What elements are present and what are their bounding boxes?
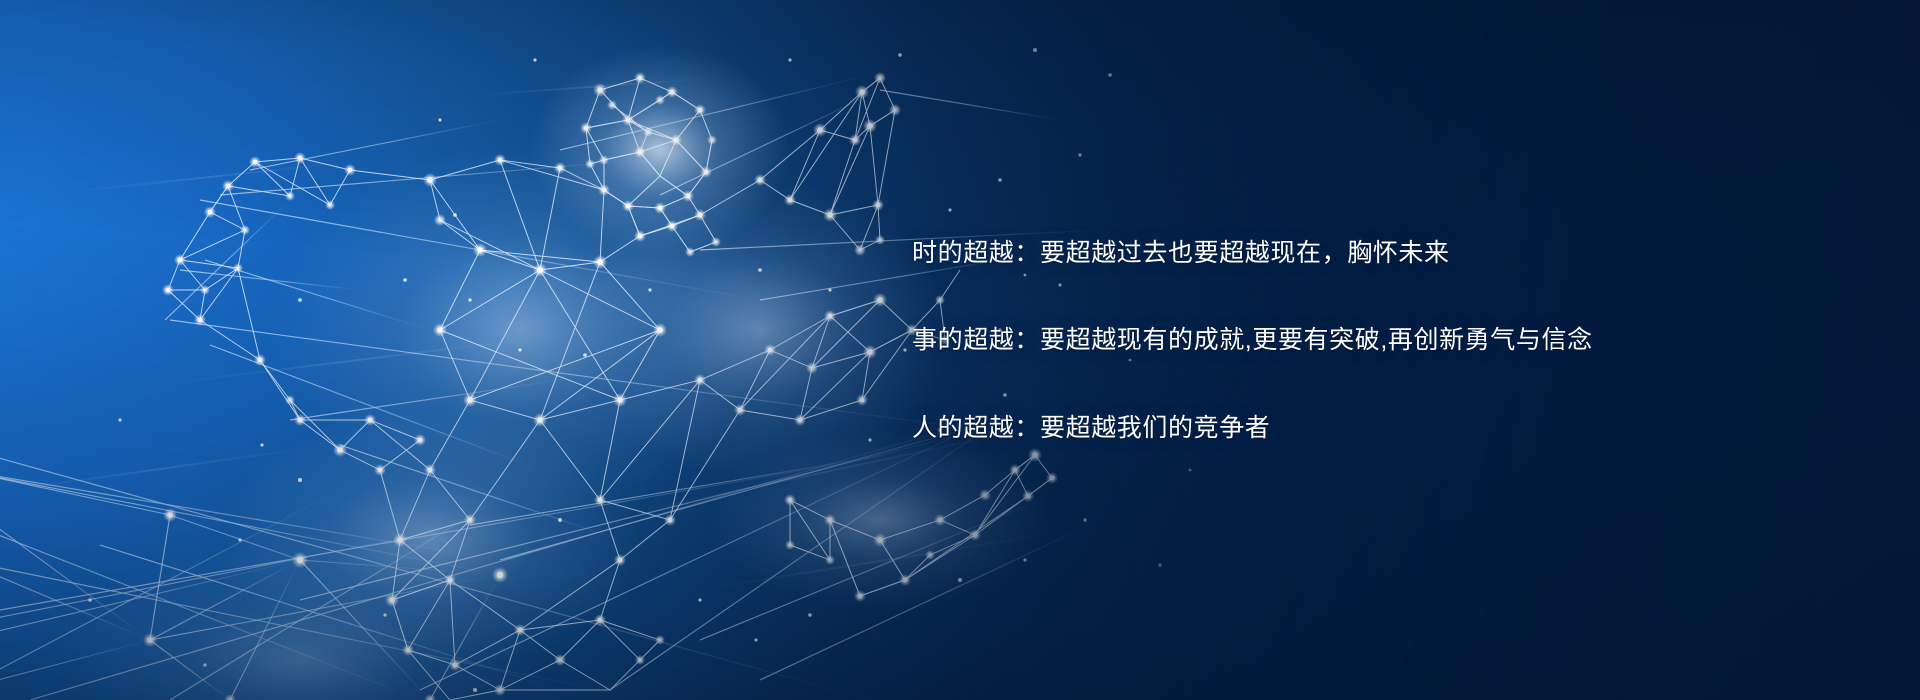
slogan-line-1: 时的超越：要超越过去也要超越现在，胸怀未来 [912,238,1812,269]
slogan-line-2: 事的超越：要超越现有的成就,更要有突破,再创新勇气与信念 [912,325,1812,356]
banner-hero: 时的超越：要超越过去也要超越现在，胸怀未来 事的超越：要超越现有的成就,更要有突… [0,0,1920,700]
slogan-line-3: 人的超越：要超越我们的竞争者 [912,413,1812,444]
slogan-text-block: 时的超越：要超越过去也要超越现在，胸怀未来 事的超越：要超越现有的成就,更要有突… [912,238,1812,444]
